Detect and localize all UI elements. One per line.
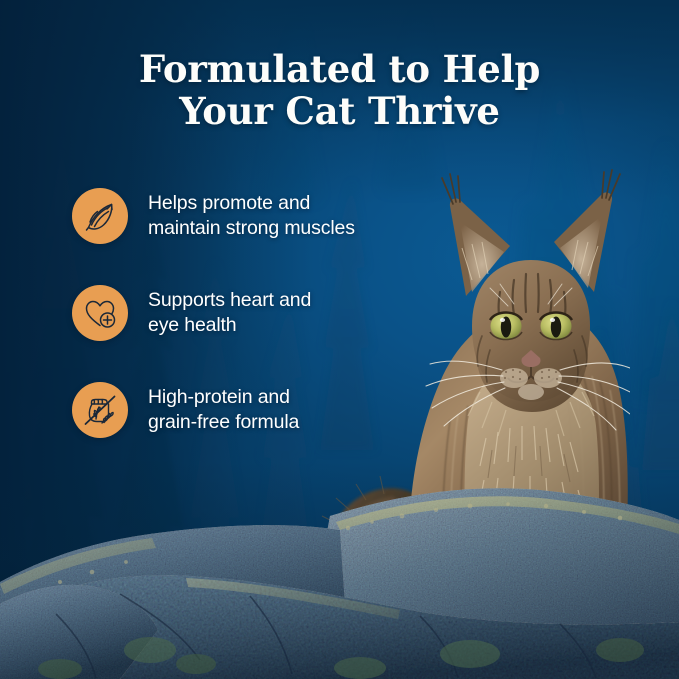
page-title: Formulated to Help Your Cat Thrive: [0, 48, 679, 132]
feature-item-muscle: Helps promote and maintain strong muscle…: [72, 188, 422, 244]
feature-text-grain-free: High-protein and grain-free formula: [148, 385, 299, 435]
heart-plus-icon: [81, 294, 119, 332]
muscle-icon-badge: [72, 188, 128, 244]
heart-plus-icon-badge: [72, 285, 128, 341]
headline-line-2: Your Cat Thrive: [0, 90, 679, 132]
muscle-icon: [81, 197, 119, 235]
headline-line-1: Formulated to Help: [139, 47, 540, 91]
feature-list: Helps promote and maintain strong muscle…: [72, 188, 422, 438]
feature-text-heart: Supports heart and eye health: [148, 288, 311, 338]
feature-item-grain-free: High-protein and grain-free formula: [72, 382, 422, 438]
no-grain-icon: [80, 390, 120, 430]
rock-foreground: [0, 464, 679, 679]
cat-food-benefits-banner: Formulated to Help Your Cat Thrive: [0, 0, 679, 679]
feature-item-heart: Supports heart and eye health: [72, 285, 422, 341]
no-grain-icon-badge: [72, 382, 128, 438]
feature-text-muscle: Helps promote and maintain strong muscle…: [148, 191, 355, 241]
